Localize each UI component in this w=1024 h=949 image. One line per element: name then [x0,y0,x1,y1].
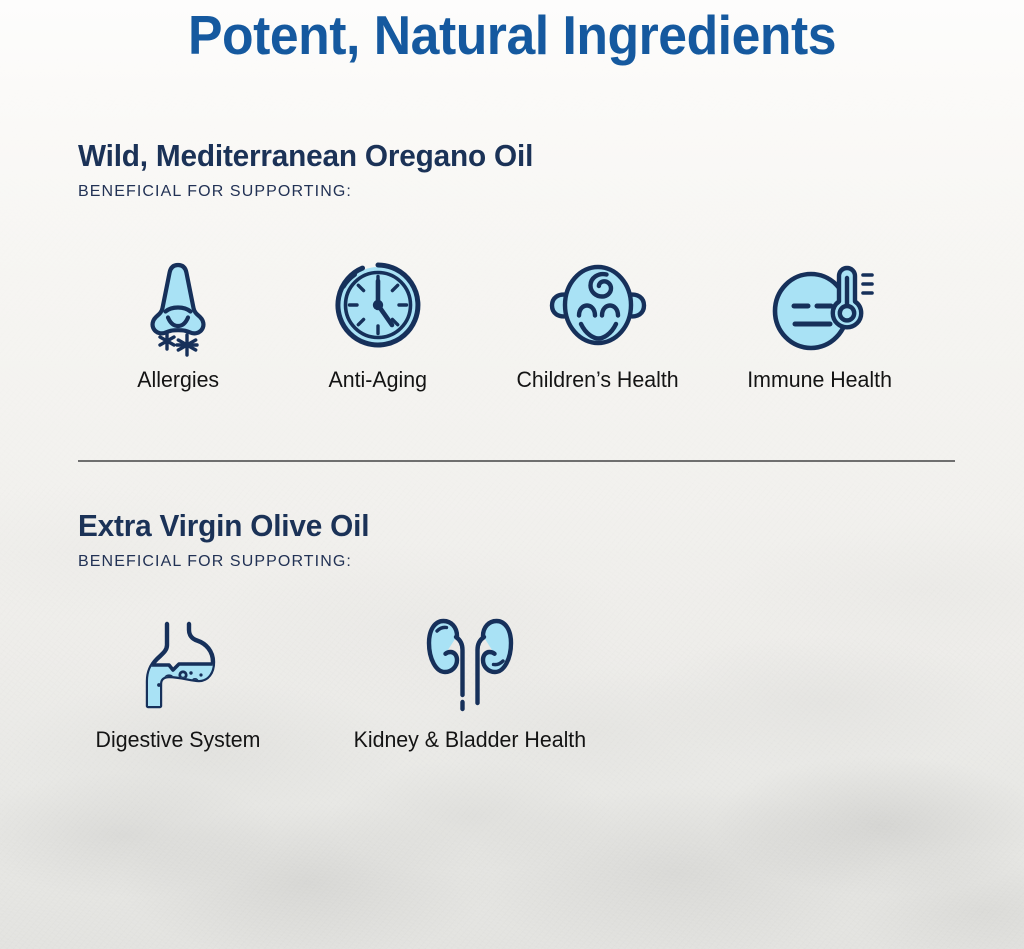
nose-allergy-icon [123,252,233,357]
section-divider [78,460,955,462]
section-subtitle-olive: BENEFICIAL FOR SUPPORTING: [78,552,381,572]
benefit-item-digestive-system: Digestive System [123,612,233,753]
stomach-icon [123,612,233,717]
section-oregano-oil: Wild, Mediterranean Oregano Oil BENEFICI… [78,137,552,202]
benefit-item-childrens-health: Children’s Health [543,252,653,393]
clock-icon [323,252,433,357]
benefit-label-kidney-bladder-health: Kidney & Bladder Health [354,726,587,753]
benefit-label-anti-aging: Anti-Aging [329,366,427,393]
baby-face-icon [543,252,653,357]
kidneys-icon [415,612,525,717]
benefit-label-immune-health: Immune Health [748,366,893,393]
benefit-item-anti-aging: Anti-Aging [323,252,433,393]
ingredients-infographic: Potent, Natural Ingredients Wild, Medite… [0,0,1024,949]
benefit-item-allergies: Allergies [123,252,233,393]
benefit-label-allergies: Allergies [137,366,219,393]
section-title-oregano: Wild, Mediterranean Oregano Oil [78,137,533,175]
section-subtitle-oregano: BENEFICIAL FOR SUPPORTING: [78,182,552,202]
benefit-label-digestive-system: Digestive System [96,726,261,753]
page-title: Potent, Natural Ingredients [31,2,994,68]
benefit-item-kidney-bladder-health: Kidney & Bladder Health [415,612,525,753]
face-thermometer-icon [765,252,875,357]
benefit-item-immune-health: Immune Health [765,252,875,393]
section-title-olive: Extra Virgin Olive Oil [78,507,369,545]
section-olive-oil: Extra Virgin Olive Oil BENEFICIAL FOR SU… [78,507,381,572]
benefit-label-childrens-health: Children’s Health [517,366,679,393]
